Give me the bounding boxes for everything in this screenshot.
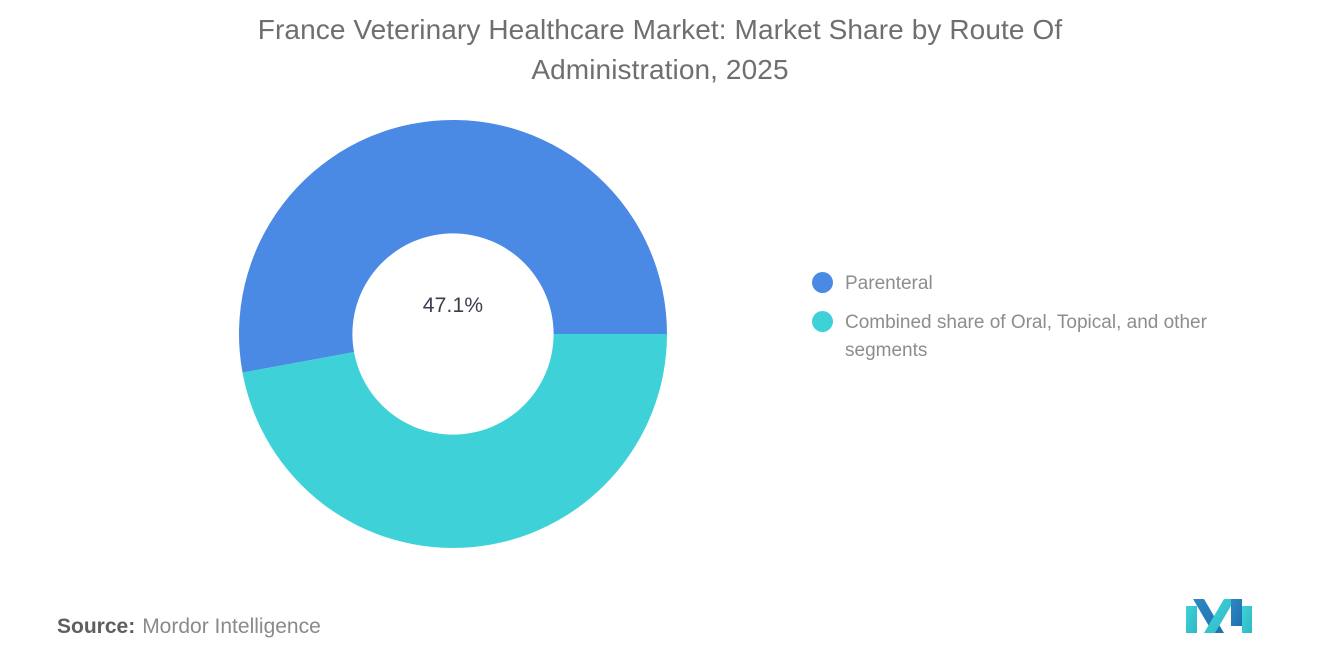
mordor-intelligence-logo xyxy=(1184,597,1254,635)
legend-swatch-icon xyxy=(812,272,833,293)
chart-legend: Parenteral Combined share of Oral, Topic… xyxy=(812,270,1242,376)
legend-item-parenteral[interactable]: Parenteral xyxy=(812,270,1242,298)
source-value: Mordor Intelligence xyxy=(142,615,321,638)
legend-item-label: Combined share of Oral, Topical, and oth… xyxy=(845,309,1220,365)
page-title: France Veterinary Healthcare Market: Mar… xyxy=(210,10,1110,90)
mi-logo-icon xyxy=(1184,597,1254,635)
legend-item-label: Parenteral xyxy=(845,270,933,298)
source-label: Source: xyxy=(57,615,135,638)
legend-item-combined[interactable]: Combined share of Oral, Topical, and oth… xyxy=(812,309,1242,365)
donut-center-hole xyxy=(352,233,553,434)
donut-chart: 47.1% xyxy=(239,120,667,548)
legend-swatch-icon xyxy=(812,311,833,332)
source-line: Source:Mordor Intelligence xyxy=(57,610,321,644)
donut-chart-svg xyxy=(239,120,667,548)
